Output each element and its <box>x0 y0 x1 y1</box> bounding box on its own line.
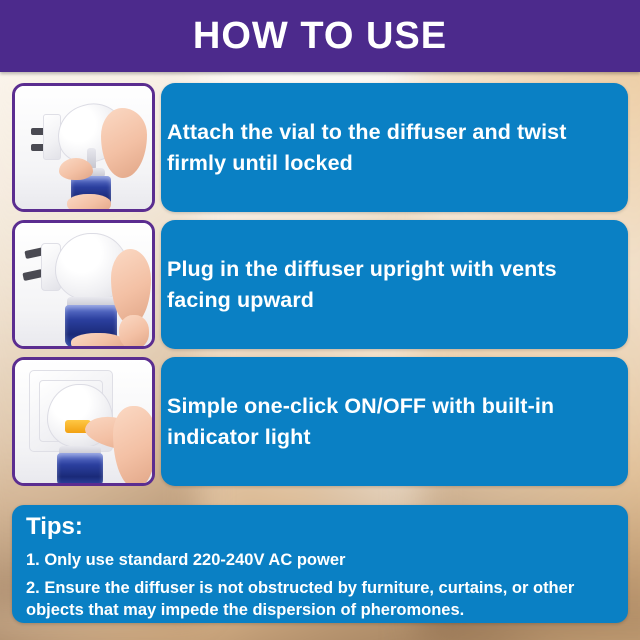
finger <box>119 315 149 349</box>
step-illustration-2 <box>15 223 152 346</box>
hand <box>111 249 151 325</box>
vial <box>57 453 103 486</box>
step-text: Plug in the diffuser upright with vents … <box>167 254 612 315</box>
finger <box>71 333 125 349</box>
hand <box>113 406 155 486</box>
tips-panel: Tips: 1. Only use standard 220-240V AC p… <box>12 505 628 623</box>
step-row: Attach the vial to the diffuser and twis… <box>0 80 640 215</box>
tip-item: 1. Only use standard 220-240V AC power <box>26 550 614 571</box>
step-illustration-1 <box>15 86 152 209</box>
hand <box>101 108 147 178</box>
step-thumbnail-1 <box>12 83 155 212</box>
step-illustration-3 <box>15 360 152 483</box>
tip-item: 2. Ensure the diffuser is not obstructed… <box>26 578 614 621</box>
tips-heading: Tips: <box>26 513 614 542</box>
step-panel-2: Plug in the diffuser upright with vents … <box>161 220 628 349</box>
infographic-page: HOW TO USE Attach the <box>0 0 640 640</box>
page-title: HOW TO USE <box>193 17 447 55</box>
step-thumbnail-2 <box>12 220 155 349</box>
finger <box>67 194 111 212</box>
steps-list: Attach the vial to the diffuser and twis… <box>0 80 640 491</box>
step-panel-1: Attach the vial to the diffuser and twis… <box>161 83 628 212</box>
finger <box>59 158 93 180</box>
header-banner: HOW TO USE <box>0 0 640 72</box>
step-row: Plug in the diffuser upright with vents … <box>0 217 640 352</box>
step-panel-3: Simple one-click ON/OFF with built-in in… <box>161 357 628 486</box>
step-thumbnail-3 <box>12 357 155 486</box>
step-text: Simple one-click ON/OFF with built-in in… <box>167 391 612 452</box>
step-row: Simple one-click ON/OFF with built-in in… <box>0 354 640 489</box>
step-text: Attach the vial to the diffuser and twis… <box>167 117 612 178</box>
